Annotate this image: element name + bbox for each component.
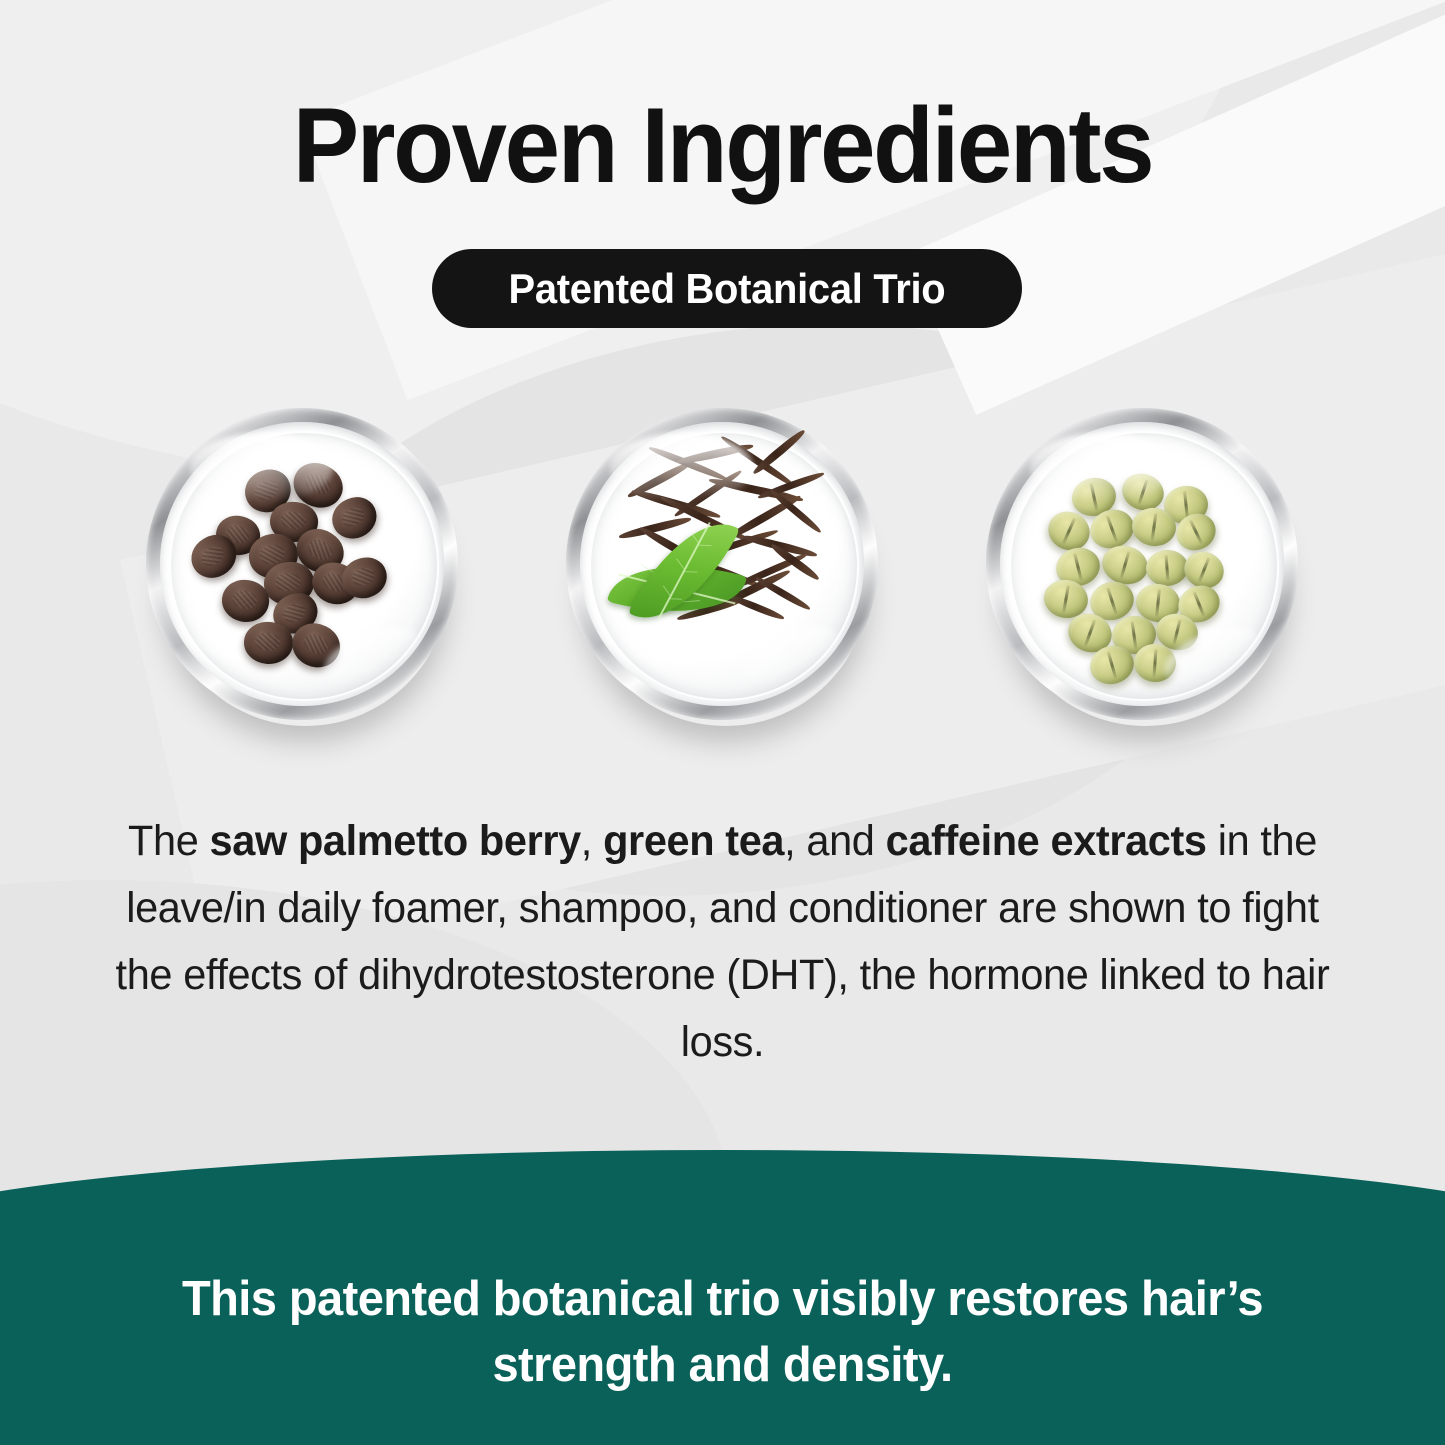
body-text: The: [128, 817, 209, 865]
body-paragraph: The saw palmetto berry, green tea, and c…: [95, 808, 1350, 1076]
background-highlight-band-right: [905, 0, 1445, 415]
page-title: Proven Ingredients: [51, 92, 1395, 199]
footer-banner-text: This patented botanical trio visibly res…: [96, 1266, 1349, 1398]
ingredient-dish-green-tea: [566, 408, 878, 720]
ingredient-dish-row: [0, 408, 1445, 738]
ingredient-dish-saw-palmetto-berry: [146, 408, 458, 720]
body-emphasis: saw palmetto berry: [210, 817, 581, 865]
status-badge-label: Patented Botanical Trio: [509, 265, 946, 313]
body-emphasis: green tea: [603, 817, 784, 865]
coffee-bean-icon: [1145, 549, 1189, 588]
ingredients-infographic: Proven Ingredients Patented Botanical Tr…: [0, 0, 1445, 1445]
body-text: ,: [581, 817, 603, 865]
footer-banner: This patented botanical trio visibly res…: [0, 1150, 1445, 1445]
status-badge: Patented Botanical Trio: [432, 249, 1022, 328]
body-emphasis: caffeine extracts: [886, 817, 1207, 865]
dish-highlight: [610, 433, 754, 502]
ingredient-dish-green-coffee-bean: [986, 408, 1298, 720]
dish-highlight: [190, 433, 334, 502]
body-text: , and: [784, 817, 886, 865]
dish-highlight: [1030, 433, 1174, 502]
